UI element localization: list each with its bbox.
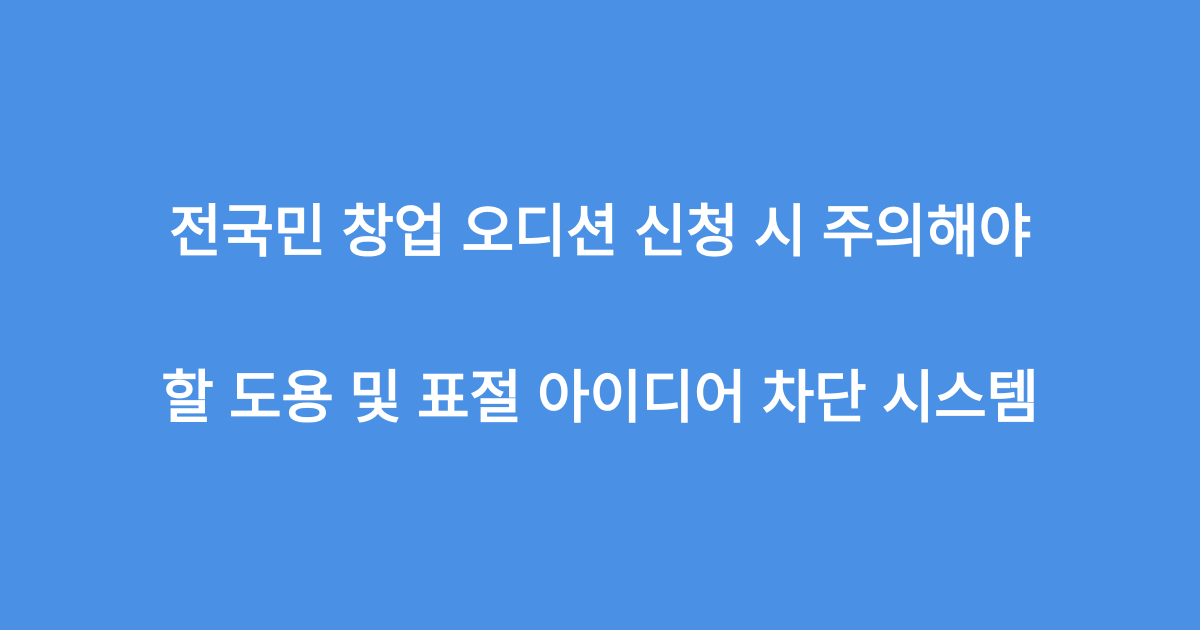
page-title: 전국민 창업 오디션 신청 시 주의해야 할 도용 및 표절 아이디어 차단 시… [40,108,1160,523]
banner-card: 전국민 창업 오디션 신청 시 주의해야 할 도용 및 표절 아이디어 차단 시… [0,0,1200,630]
page-title-line-1: 전국민 창업 오디션 신청 시 주의해야 [40,191,1160,274]
page-title-line-2: 할 도용 및 표절 아이디어 차단 시스템 [40,357,1160,440]
